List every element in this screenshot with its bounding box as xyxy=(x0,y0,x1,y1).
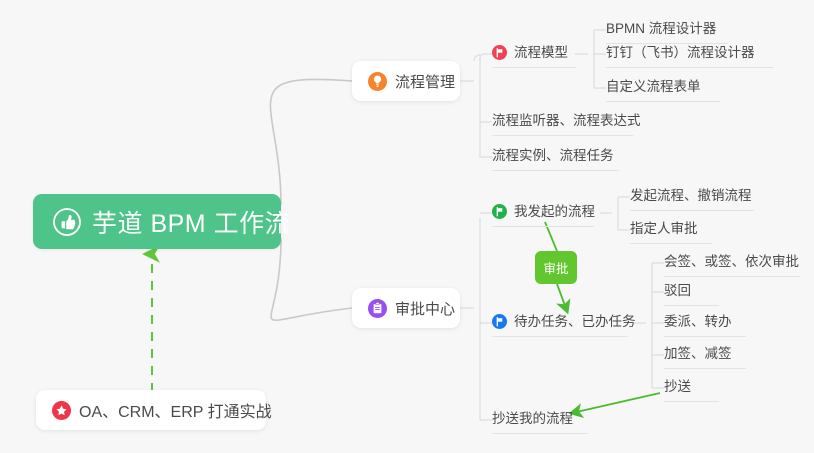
leaf-node-dingtalk-feishu-designer[interactable]: 钉钉（飞书）流程设计器 xyxy=(606,42,773,68)
leaf-label: 流程监听器、流程表达式 xyxy=(492,114,641,128)
leaf-label: 流程模型 xyxy=(514,46,568,60)
edge-instance-task-stub xyxy=(480,155,492,157)
flag-icon xyxy=(492,314,507,329)
leaf-label: 驳回 xyxy=(664,284,691,298)
edge-root-to-shenpi-zhongxin xyxy=(271,238,352,320)
branch-label: 审批中心 xyxy=(395,298,455,319)
leaf-node-instance-task[interactable]: 流程实例、流程任务 xyxy=(492,145,619,171)
leaf-label: 抄送 xyxy=(664,380,691,394)
clipboard-icon xyxy=(368,299,387,318)
tag-badge-label: 审批 xyxy=(543,258,568,277)
leaf-label: 我发起的流程 xyxy=(514,205,595,219)
leaf-node-cc-to-me-process[interactable]: 抄送我的流程 xyxy=(492,408,588,434)
leaf-node-delegate-transfer[interactable]: 委派、转办 xyxy=(664,311,746,337)
tag-badge-shenpi[interactable]: 审批 xyxy=(535,251,577,284)
leaf-node-add-remove-sign[interactable]: 加签、减签 xyxy=(664,343,746,369)
mindmap-canvas: 芋道 BPM 工作流 流程管理 审批中心 xyxy=(0,0,814,453)
lightbulb-icon xyxy=(368,72,387,91)
leaf-node-my-started-process[interactable]: 我发起的流程 xyxy=(492,201,594,227)
leaf-node-start-cancel-process[interactable]: 发起流程、撤销流程 xyxy=(630,185,754,211)
flag-icon xyxy=(492,45,507,60)
leaf-label: 待办任务、已办任务 xyxy=(514,315,636,329)
root-node[interactable]: 芋道 BPM 工作流 xyxy=(33,194,281,249)
edge-spine-top-corner-1 xyxy=(474,55,480,61)
leaf-node-assignee-approval[interactable]: 指定人审批 xyxy=(630,218,712,244)
leaf-node-reject[interactable]: 驳回 xyxy=(664,280,719,306)
leaf-node-liucheng-moxing[interactable]: 流程模型 xyxy=(492,42,576,68)
leaf-label: 抄送我的流程 xyxy=(492,412,573,426)
leaf-node-bpmn-designer[interactable]: BPMN 流程设计器 xyxy=(606,18,728,44)
branch-node-shenpi-zhongxin[interactable]: 审批中心 xyxy=(352,288,460,328)
floating-note-label: OA、CRM、ERP 打通实战 xyxy=(79,398,272,422)
leaf-node-cc[interactable]: 抄送 xyxy=(664,376,719,402)
leaf-label: 流程实例、流程任务 xyxy=(492,149,614,163)
leaf-node-custom-process-form[interactable]: 自定义流程表单 xyxy=(606,76,720,102)
root-label: 芋道 BPM 工作流 xyxy=(92,204,290,240)
flag-icon xyxy=(492,204,507,219)
arrow-shenpi-flow-2 xyxy=(557,284,567,311)
leaf-node-listener-expression[interactable]: 流程监听器、流程表达式 xyxy=(492,110,633,136)
thumbs-up-icon xyxy=(53,208,81,236)
leaf-label: BPMN 流程设计器 xyxy=(606,22,716,36)
edge-root-to-liucheng-guanli xyxy=(270,79,352,205)
leaf-label: 指定人审批 xyxy=(630,222,698,236)
leaf-label: 钉钉（飞书）流程设计器 xyxy=(606,46,755,60)
leaf-label: 会签、或签、依次审批 xyxy=(664,255,799,269)
leaf-label: 自定义流程表单 xyxy=(606,80,701,94)
branch-label: 流程管理 xyxy=(395,71,455,92)
leaf-label: 委派、转办 xyxy=(664,315,732,329)
leaf-label: 加签、减签 xyxy=(664,347,732,361)
edge-liucheng-moxing-stub xyxy=(480,54,492,61)
leaf-node-todo-done-task[interactable]: 待办任务、已办任务 xyxy=(492,311,628,337)
branch-node-liucheng-guanli[interactable]: 流程管理 xyxy=(352,61,460,101)
leaf-label: 发起流程、撤销流程 xyxy=(630,189,752,203)
star-icon xyxy=(52,401,71,420)
floating-note-card[interactable]: OA、CRM、ERP 打通实战 xyxy=(36,390,266,430)
leaf-node-countersign-orsign-sequential[interactable]: 会签、或签、依次审批 xyxy=(664,251,800,277)
